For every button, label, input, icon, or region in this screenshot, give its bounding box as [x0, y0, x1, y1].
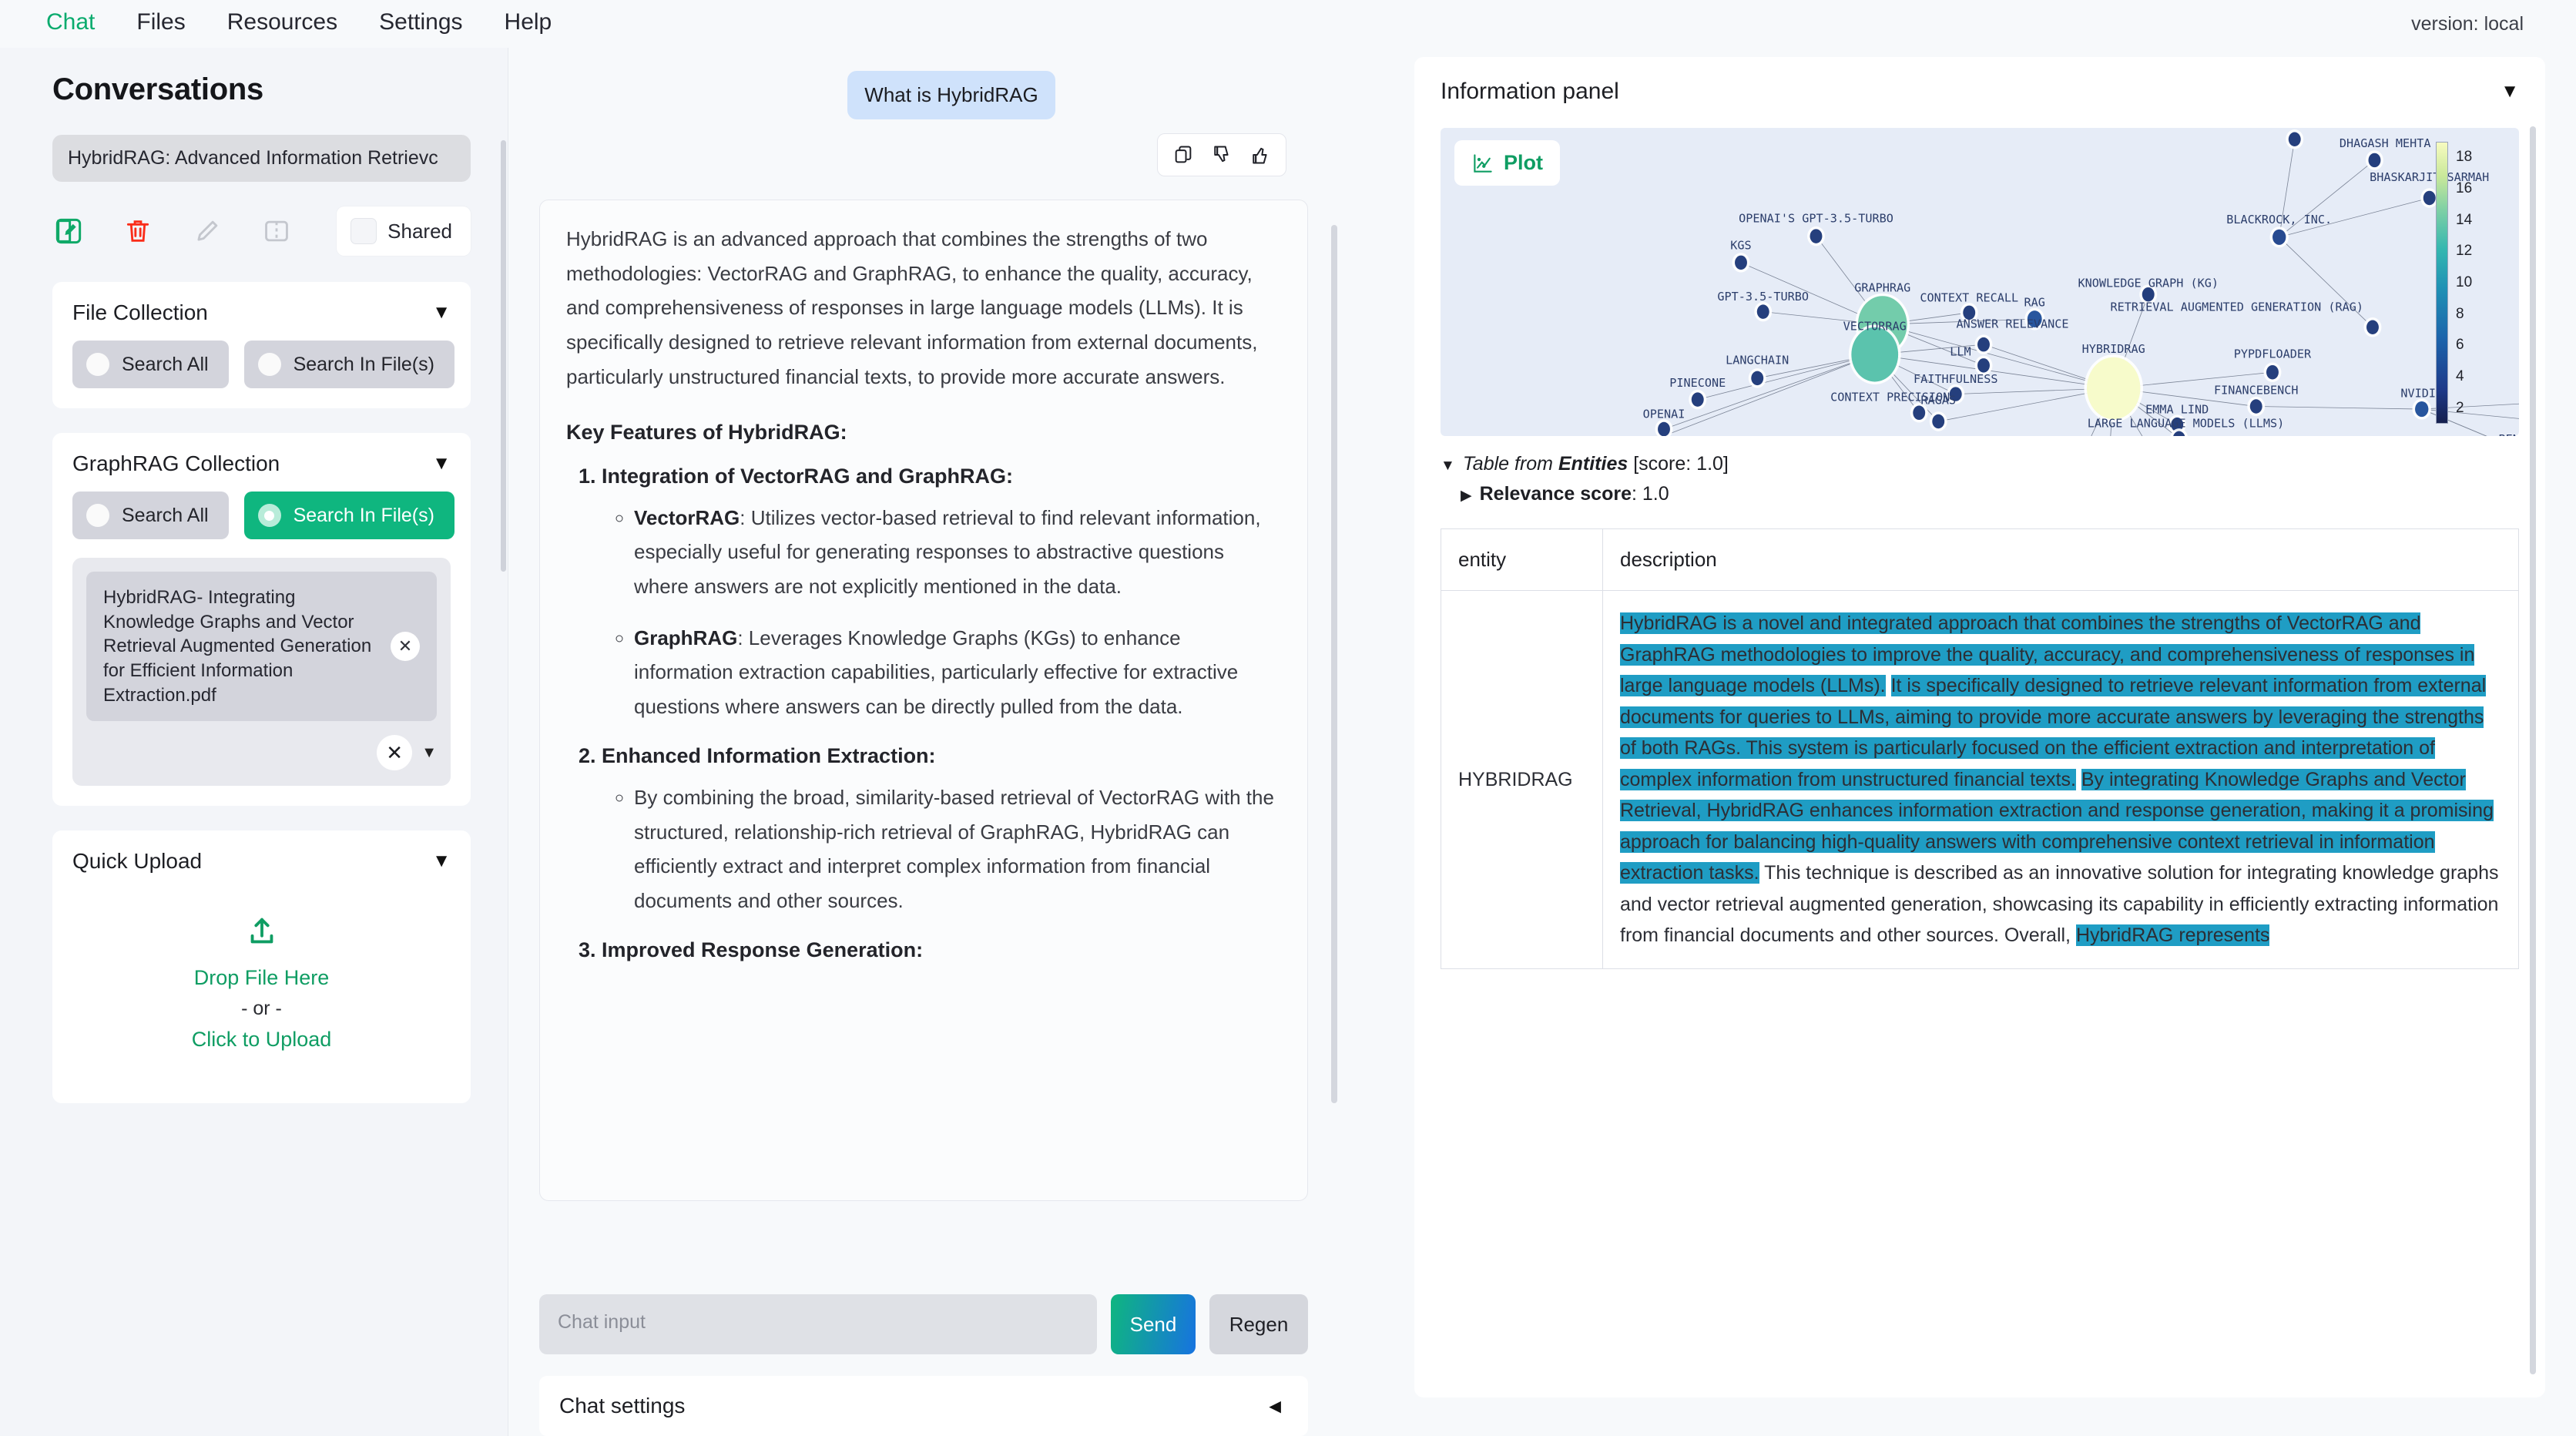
- table-row: HYBRIDRAGHybridRAG is a novel and integr…: [1441, 591, 2519, 969]
- drop-file-label: Drop File Here: [194, 966, 330, 990]
- feature-item: Improved Response Generation:: [602, 938, 1281, 962]
- colorbar-tick: 18: [2456, 149, 2472, 166]
- table-source-score: [score: 1.0]: [1628, 453, 1729, 475]
- graph-node[interactable]: [1849, 324, 1901, 384]
- graph-node-label: HYBRIDRAG: [2082, 342, 2145, 356]
- rename-icon[interactable]: [191, 215, 223, 247]
- tab-chat[interactable]: Chat: [46, 9, 95, 39]
- assistant-intro: HybridRAG is an advanced approach that c…: [566, 222, 1281, 394]
- relevance-score-value: 1.0: [1642, 483, 1669, 505]
- chevron-down-icon[interactable]: ▼: [432, 455, 451, 473]
- graphrag-collection-title: GraphRAG Collection: [72, 451, 280, 476]
- feature-item: Integration of VectorRAG and GraphRAG: V…: [602, 465, 1281, 724]
- bullet-term: VectorRAG: [634, 506, 740, 529]
- graph-node[interactable]: [1930, 411, 1947, 431]
- colorbar-tick: 8: [2456, 306, 2464, 323]
- relevance-score-line[interactable]: ▶ Relevance score: 1.0: [1441, 483, 2519, 505]
- chat-column: What is HybridRAG: [508, 48, 1387, 1436]
- or-label: - or -: [241, 998, 282, 1020]
- graph-node-label: BLACKROCK, INC.: [2226, 213, 2332, 226]
- graph-node-label: KNOWLEDGE GRAPH (KG): [2078, 277, 2219, 290]
- colorbar-tick: 10: [2456, 274, 2472, 291]
- plot-button-label: Plot: [1504, 151, 1543, 175]
- clear-all-icon[interactable]: ✕: [377, 735, 412, 770]
- graphrag-collection-header[interactable]: GraphRAG Collection ▼: [72, 451, 451, 476]
- table-header-row: entity description: [1441, 529, 2519, 591]
- plot-button[interactable]: Plot: [1454, 140, 1560, 186]
- feature-bullets: By combining the broad, similarity-based…: [602, 780, 1281, 918]
- selected-file-chip[interactable]: HybridRAG- Integrating Knowledge Graphs …: [86, 572, 437, 721]
- graph-node[interactable]: [1689, 390, 1706, 409]
- graph-plot[interactable]: STEFANO PASQUALIDHAGASH MEHTABHASKARJIT …: [1441, 128, 2519, 436]
- file-collection-header[interactable]: File Collection ▼: [72, 300, 451, 325]
- graph-node-label: FAITHFULNESS: [1914, 372, 1998, 386]
- colorbar-tick: 14: [2456, 212, 2472, 229]
- graph-node-label: KGS: [1730, 239, 1751, 253]
- information-panel-title: Information panel: [1441, 79, 1619, 105]
- option-label: Search In File(s): [293, 505, 434, 527]
- graph-edge: [2256, 407, 2422, 410]
- shared-toggle[interactable]: Shared: [337, 206, 471, 256]
- chat-settings-label: Chat settings: [559, 1394, 685, 1418]
- graph-node[interactable]: [2364, 317, 2382, 337]
- graph-node-label: OPENAI'S GPT-3.5-TURBO: [1739, 211, 1893, 225]
- graph-node-label: PINECONE: [1669, 376, 1726, 390]
- message-actions: [1157, 133, 1286, 176]
- table-metadata: ▼ Table from Entities [score: 1.0] ▶ Rel…: [1441, 453, 2519, 505]
- graphrag-search-in-files-option[interactable]: Search In File(s): [244, 492, 454, 539]
- graph-node-label: BENIKA HALL: [2499, 432, 2519, 436]
- bullet-text: By combining the broad, similarity-based…: [634, 786, 1274, 912]
- shared-label: Shared: [387, 220, 452, 243]
- graph-node-label: STEFANO PASQUALI: [2239, 128, 2351, 129]
- graph-node-label: RAG: [2024, 296, 2045, 310]
- feature-list: Integration of VectorRAG and GraphRAG: V…: [566, 465, 1281, 962]
- radio-icon: [86, 504, 109, 527]
- panel-scrollbar[interactable]: [2530, 126, 2536, 1374]
- chat-input[interactable]: [539, 1294, 1097, 1354]
- option-label: Search All: [122, 354, 209, 376]
- colorbar-gradient: [2436, 142, 2448, 424]
- click-to-upload-link[interactable]: Click to Upload: [192, 1028, 332, 1052]
- feature-title: Improved Response Generation:: [602, 938, 923, 961]
- graph-node[interactable]: [1754, 302, 1772, 321]
- graph-node-label: RETRIEVAL AUGMENTED GENERATION (RAG): [2110, 300, 2363, 314]
- graph-node[interactable]: [2270, 226, 2289, 247]
- colorbar-tick: 2: [2456, 400, 2464, 417]
- panel-icon[interactable]: [260, 215, 293, 247]
- chevron-down-icon[interactable]: ▼: [2501, 82, 2519, 101]
- option-label: Search All: [122, 505, 209, 527]
- user-message-bubble: What is HybridRAG: [847, 71, 1055, 119]
- bullet-item: By combining the broad, similarity-based…: [634, 780, 1281, 918]
- chevron-down-icon[interactable]: ▼: [421, 744, 437, 762]
- plain-text: [2076, 769, 2081, 790]
- radio-selected-icon: [258, 504, 281, 527]
- column-header-entity: entity: [1441, 529, 1603, 591]
- chevron-left-icon[interactable]: ◄: [1265, 1394, 1285, 1418]
- nav-tabs: Chat Files Resources Settings Help: [46, 9, 552, 39]
- file-dropzone[interactable]: Drop File Here - or - Click to Upload: [72, 883, 451, 1083]
- graph-node-label: DHAGASH MEHTA: [2340, 136, 2431, 150]
- upload-icon: [244, 914, 280, 954]
- assistant-message: HybridRAG is an advanced approach that c…: [539, 200, 1308, 1201]
- feature-title: Enhanced Information Extraction:: [602, 744, 936, 767]
- shared-checkbox[interactable]: [351, 218, 377, 244]
- graph-node-label: GRAPHRAG: [1854, 281, 1910, 295]
- graph-node[interactable]: [1975, 334, 1993, 354]
- chevron-down-icon[interactable]: ▼: [432, 852, 451, 871]
- feature-item: Enhanced Information Extraction: By comb…: [602, 744, 1281, 918]
- graph-node[interactable]: [2264, 362, 2282, 381]
- graph-node[interactable]: [2286, 129, 2303, 149]
- table-source-name: Entities: [1558, 453, 1628, 475]
- top-navigation: Chat Files Resources Settings Help versi…: [0, 0, 2576, 48]
- quick-upload-header[interactable]: Quick Upload ▼: [72, 849, 451, 874]
- feature-title: Integration of VectorRAG and GraphRAG:: [602, 465, 1013, 488]
- tab-settings[interactable]: Settings: [379, 9, 462, 39]
- knowledge-graph-canvas[interactable]: STEFANO PASQUALIDHAGASH MEHTABHASKARJIT …: [1441, 128, 2519, 436]
- sidebar-scrollbar[interactable]: [501, 140, 506, 572]
- information-panel-header[interactable]: Information panel ▼: [1441, 79, 2519, 105]
- graph-node[interactable]: [2366, 150, 2383, 169]
- file-search-in-files-option[interactable]: Search In File(s): [244, 341, 454, 388]
- quick-upload-title: Quick Upload: [72, 849, 202, 874]
- tab-files[interactable]: Files: [136, 9, 185, 39]
- table-source-line[interactable]: ▼ Table from Entities [score: 1.0]: [1441, 453, 2519, 475]
- graph-node[interactable]: [1732, 253, 1750, 272]
- information-panel: Information panel ▼ STEFANO PASQUALIDHAG…: [1414, 57, 2545, 1397]
- feature-bullets: VectorRAG: Utilizes vector-based retriev…: [602, 501, 1281, 724]
- new-chat-icon[interactable]: [52, 215, 85, 247]
- graph-node[interactable]: [2247, 397, 2265, 416]
- graph-node-label: CONTEXT RECALL: [1920, 291, 2018, 305]
- file-search-all-option[interactable]: Search All: [72, 341, 229, 388]
- chat-settings-panel[interactable]: Chat settings ◄: [539, 1376, 1308, 1436]
- selected-file-name: HybridRAG- Integrating Knowledge Graphs …: [103, 585, 380, 707]
- send-button[interactable]: Send: [1111, 1294, 1196, 1354]
- graph-node-label: PYPDFLOADER: [2234, 347, 2312, 361]
- plain-text: [1886, 675, 1891, 696]
- version-label: version: local: [2411, 13, 2545, 35]
- bullet-term: GraphRAG: [634, 626, 737, 649]
- graph-node-label: LARGE LANGUAGE MODELS (LLMS): [2088, 417, 2285, 431]
- delete-icon[interactable]: [122, 215, 154, 247]
- regen-button[interactable]: Regen: [1209, 1294, 1308, 1354]
- thumbs-up-icon[interactable]: [1247, 142, 1273, 168]
- information-column: Information panel ▼ STEFANO PASQUALIDHAG…: [1387, 48, 2576, 1436]
- colorbar-tick: 12: [2456, 243, 2472, 260]
- bullet-item: VectorRAG: Utilizes vector-based retriev…: [634, 501, 1281, 604]
- selected-files-box: HybridRAG- Integrating Knowledge Graphs …: [72, 558, 451, 786]
- chevron-down-icon[interactable]: ▼: [432, 304, 451, 322]
- colorbar-tick: 16: [2456, 180, 2472, 197]
- quick-upload-card: Quick Upload ▼ Drop File Here - or - Cli…: [52, 830, 471, 1103]
- graph-node-label: FINANCEBENCH: [2214, 384, 2299, 398]
- graph-node[interactable]: [2413, 398, 2431, 419]
- graph-node-label: RAGAS: [1920, 394, 1956, 408]
- chat-scroll-area: What is HybridRAG: [539, 48, 1363, 1288]
- graph-node-label: GPT-3.5-TURBO: [1717, 290, 1809, 304]
- chat-composer: Send Regen: [539, 1294, 1363, 1354]
- conversation-actions: Shared: [52, 205, 471, 257]
- highlighted-text: HybridRAG represents: [2076, 924, 2269, 946]
- graph-node[interactable]: [1749, 368, 1766, 388]
- graph-node[interactable]: [1655, 419, 1673, 436]
- table-source-prefix: Table from: [1463, 453, 1558, 475]
- tab-help[interactable]: Help: [505, 9, 552, 39]
- bullet-item: GraphRAG: Leverages Knowledge Graphs (KG…: [634, 621, 1281, 724]
- graphrag-collection-card: GraphRAG Collection ▼ Search All Search …: [52, 433, 471, 806]
- table-body: HYBRIDRAGHybridRAG is a novel and integr…: [1441, 591, 2519, 969]
- caret-down-icon[interactable]: ▼: [1441, 458, 1455, 475]
- radio-icon: [86, 353, 109, 376]
- graph-node-label: OPENAI: [1643, 407, 1685, 421]
- message-actions-row: [539, 133, 1363, 176]
- graph-node[interactable]: [2085, 354, 2143, 422]
- colorbar-tick: 4: [2456, 368, 2464, 385]
- graphrag-search-all-option[interactable]: Search All: [72, 492, 229, 539]
- remove-file-icon[interactable]: ✕: [391, 632, 420, 661]
- graph-node[interactable]: [1807, 226, 1825, 246]
- tab-resources[interactable]: Resources: [227, 9, 337, 39]
- graph-node-label: LANGCHAIN: [1726, 354, 1789, 367]
- entities-table: entity description HYBRIDRAGHybridRAG is…: [1441, 528, 2519, 969]
- sidebar: Conversations HybridRAG: Advanced Inform…: [0, 48, 508, 1436]
- cell-entity: HYBRIDRAG: [1441, 591, 1603, 969]
- cell-description: HybridRAG is a novel and integrated appr…: [1603, 591, 2519, 969]
- graph-node-label: EMMA LIND: [2145, 402, 2209, 416]
- page-title: Conversations: [52, 72, 471, 107]
- key-features-heading: Key Features of HybridRAG:: [566, 421, 1281, 445]
- file-collection-card: File Collection ▼ Search All Search In F…: [52, 282, 471, 408]
- colorbar-tick: 6: [2456, 337, 2464, 354]
- option-label: Search In File(s): [293, 354, 434, 376]
- graph-node-label: LLM: [1950, 344, 1971, 358]
- graph-node-label: ANSWER RELEVANCE: [1956, 317, 2068, 330]
- selected-files-footer: ✕ ▼: [86, 733, 437, 772]
- thumbs-down-icon[interactable]: [1209, 142, 1235, 168]
- chat-scrollbar[interactable]: [1331, 225, 1337, 1103]
- file-collection-options: Search All Search In File(s): [72, 341, 451, 388]
- copy-icon[interactable]: [1170, 142, 1196, 168]
- radio-icon: [258, 353, 281, 376]
- graph-node-label: VECTORRAG: [1843, 319, 1907, 333]
- file-collection-title: File Collection: [72, 300, 208, 325]
- relevance-score-label: Relevance score: [1480, 483, 1632, 505]
- caret-right-icon[interactable]: ▶: [1461, 487, 1472, 505]
- graphrag-collection-options: Search All Search In File(s): [72, 492, 451, 539]
- colorbar: 24681012141618: [2436, 142, 2488, 424]
- column-header-description: description: [1603, 529, 2519, 591]
- colorbar-ticks: 24681012141618: [2456, 142, 2488, 424]
- user-message-row: What is HybridRAG: [539, 71, 1363, 119]
- main-layout: Conversations HybridRAG: Advanced Inform…: [0, 48, 2576, 1436]
- conversation-item[interactable]: HybridRAG: Advanced Information Retrievc: [52, 135, 471, 182]
